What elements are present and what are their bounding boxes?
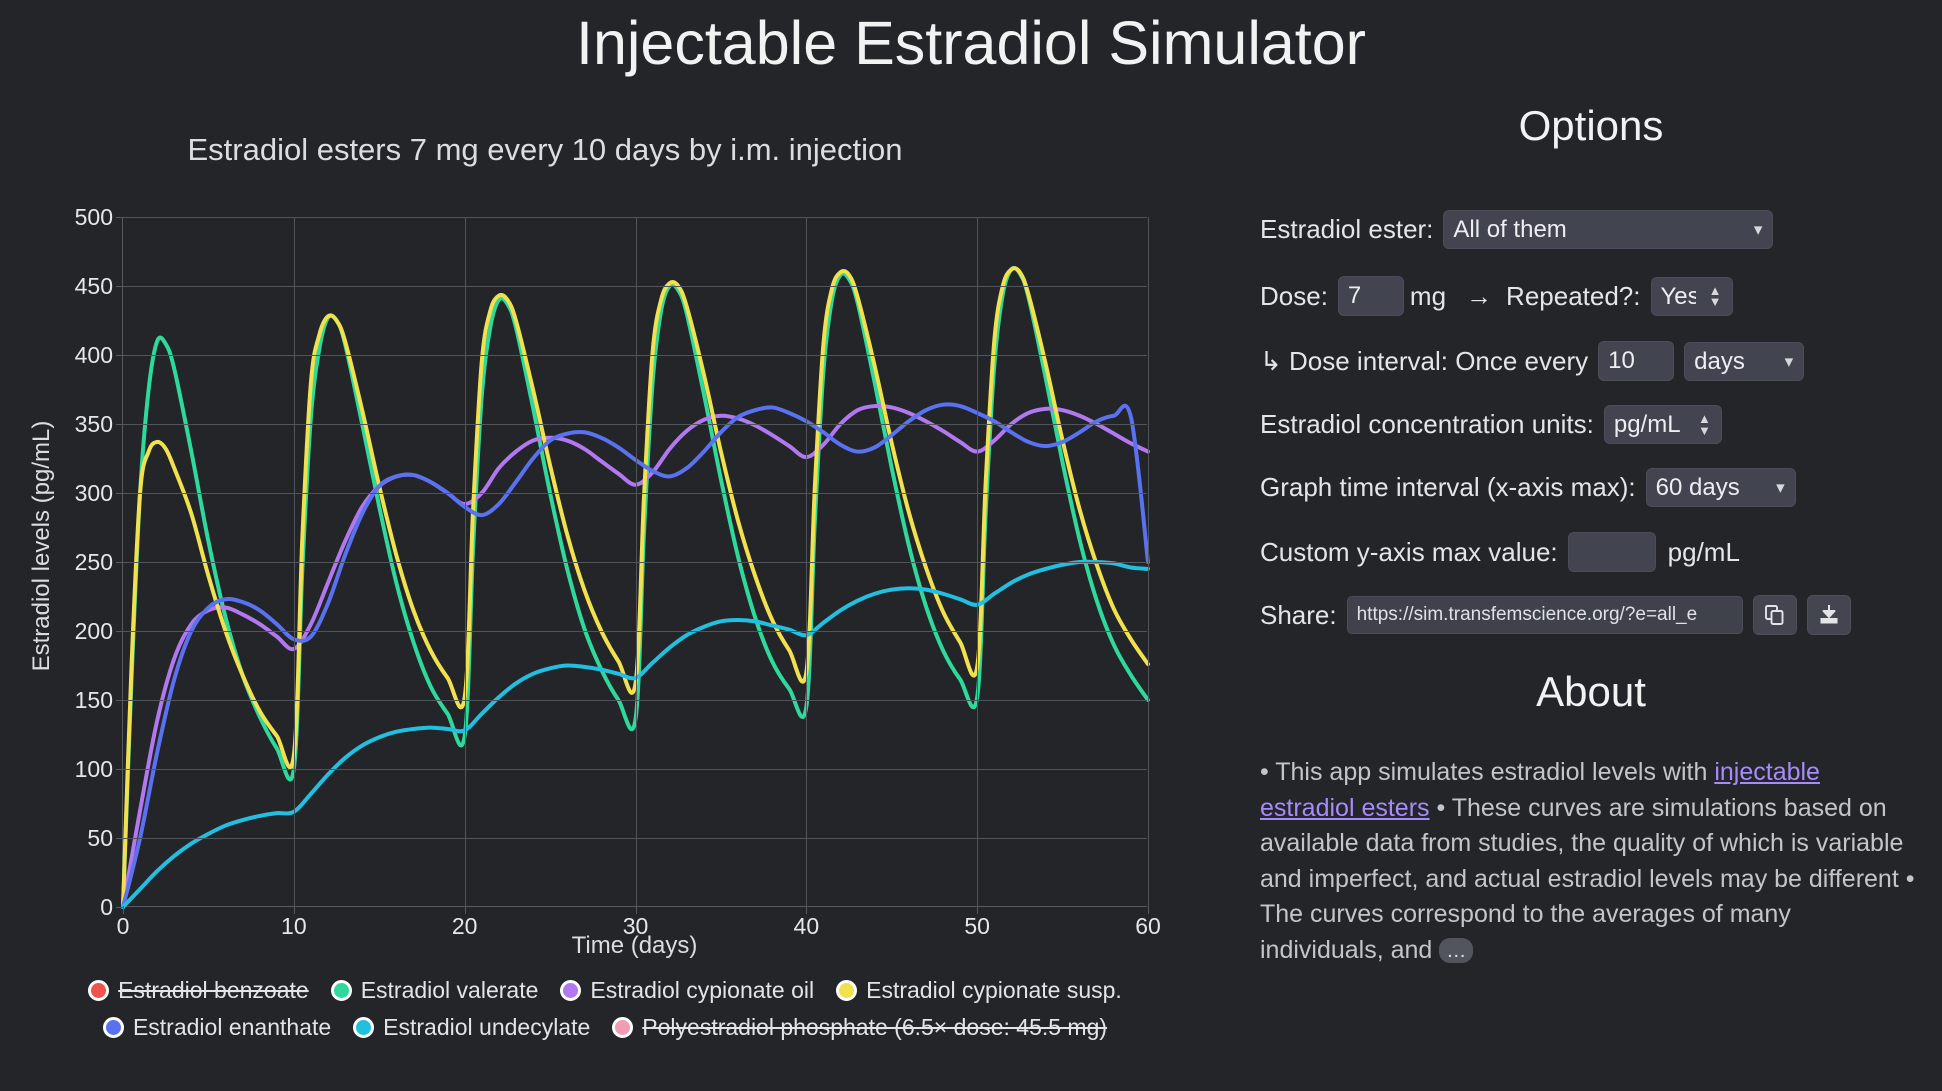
option-row-share: Share: [1260, 595, 1851, 635]
options-panel: Options Estradiol ester: All of them ▾ D… [1240, 0, 1942, 1091]
plot-wrapper: Estradiol levels (pg/mL) Time (days) 050… [0, 167, 1210, 957]
chart-legend: Estradiol benzoateEstradiol valerateEstr… [0, 977, 1210, 1051]
x-axis-tick-mark [806, 906, 807, 914]
about-text: • This app simulates estradiol levels wi… [1260, 755, 1920, 968]
y-axis-tick-mark [116, 217, 123, 218]
y-axis-tick-mark [116, 493, 123, 494]
legend-item-label: Estradiol undecylate [383, 1014, 590, 1041]
chart-container: Estradiol esters 7 mg every 10 days by i… [0, 122, 1210, 1082]
share-label: Share: [1260, 600, 1337, 631]
ymax-unit: pg/mL [1668, 537, 1740, 568]
time-interval-select-wrap[interactable]: 60 days ▾ [1646, 468, 1796, 507]
x-axis-tick-mark [636, 906, 637, 914]
time-interval-select[interactable]: 60 days [1646, 468, 1796, 507]
legend-item[interactable]: Polyestradiol phosphate (6.5× dose: 45.5… [612, 1014, 1107, 1041]
legend-item[interactable]: Estradiol cypionate oil [560, 977, 814, 1004]
ester-label: Estradiol ester: [1260, 214, 1433, 245]
legend-item[interactable]: Estradiol benzoate [88, 977, 309, 1004]
ymax-input[interactable] [1568, 532, 1656, 572]
x-axis-tick-label: 40 [766, 913, 846, 940]
ester-select-wrap[interactable]: All of them ▾ [1443, 210, 1773, 249]
x-axis-tick-mark [977, 906, 978, 914]
option-row-ester: Estradiol ester: All of them ▾ [1260, 210, 1773, 249]
option-row-units: Estradiol concentration units: pg/mL ▲▼ [1260, 405, 1722, 444]
gridline-vertical [294, 217, 295, 906]
option-row-dose: Dose: mg → Repeated?: Yes ▲▼ [1260, 276, 1733, 316]
legend-item[interactable]: Estradiol cypionate susp. [836, 977, 1122, 1004]
repeated-select[interactable]: Yes [1651, 277, 1733, 316]
y-axis-tick-mark [116, 424, 123, 425]
y-axis-tick-mark [116, 907, 123, 908]
y-axis-tick-label: 250 [0, 549, 113, 576]
y-axis-tick-mark [116, 355, 123, 356]
legend-row: Estradiol benzoateEstradiol valerateEstr… [0, 977, 1210, 1004]
copy-icon [1763, 603, 1787, 627]
units-select-wrap[interactable]: pg/mL ▲▼ [1604, 405, 1722, 444]
dose-unit: mg [1410, 281, 1446, 312]
legend-item-label: Estradiol benzoate [118, 977, 309, 1004]
legend-color-swatch [836, 980, 857, 1001]
y-axis-tick-label: 350 [0, 411, 113, 438]
ymax-label: Custom y-axis max value: [1260, 537, 1558, 568]
legend-color-swatch [612, 1017, 633, 1038]
y-axis-tick-label: 200 [0, 618, 113, 645]
gridline-vertical [977, 217, 978, 906]
legend-color-swatch [331, 980, 352, 1001]
legend-item[interactable]: Estradiol valerate [331, 977, 539, 1004]
y-axis-tick-label: 450 [0, 273, 113, 300]
interval-label: ↳ Dose interval: Once every [1260, 346, 1588, 377]
x-axis-tick-label: 20 [425, 913, 505, 940]
x-axis-tick-label: 30 [596, 913, 676, 940]
y-axis-tick-mark [116, 838, 123, 839]
option-row-ymax: Custom y-axis max value: pg/mL [1260, 532, 1746, 572]
legend-row: Estradiol enanthateEstradiol undecylateP… [0, 1014, 1210, 1041]
legend-item-label: Estradiol cypionate oil [590, 977, 814, 1004]
y-axis-tick-mark [116, 700, 123, 701]
x-axis-tick-mark [1148, 906, 1149, 914]
y-axis-tick-mark [116, 562, 123, 563]
dose-label: Dose: [1260, 281, 1328, 312]
interval-unit-select[interactable]: days [1684, 342, 1804, 381]
about-part1: • This app simulates estradiol levels wi… [1260, 758, 1714, 786]
gridline-vertical [465, 217, 466, 906]
y-axis-tick-label: 300 [0, 480, 113, 507]
x-axis-tick-mark [123, 906, 124, 914]
legend-color-swatch [353, 1017, 374, 1038]
chart-title: Estradiol esters 7 mg every 10 days by i… [0, 132, 1210, 168]
y-axis-tick-label: 150 [0, 687, 113, 714]
legend-item-label: Polyestradiol phosphate (6.5× dose: 45.5… [642, 1014, 1107, 1041]
y-axis-tick-mark [116, 769, 123, 770]
repeated-label: Repeated?: [1506, 281, 1640, 312]
legend-color-swatch [103, 1017, 124, 1038]
x-axis-tick-label: 0 [83, 913, 163, 940]
plot-area: 0501001502002503003504004505000102030405… [122, 217, 1147, 907]
option-row-time-interval: Graph time interval (x-axis max): 60 day… [1260, 468, 1796, 507]
interval-unit-select-wrap[interactable]: days ▾ [1684, 342, 1804, 381]
units-select[interactable]: pg/mL [1604, 405, 1722, 444]
x-axis-tick-mark [465, 906, 466, 914]
legend-item-label: Estradiol valerate [361, 977, 539, 1004]
y-axis-tick-label: 100 [0, 756, 113, 783]
y-axis-tick-label: 400 [0, 342, 113, 369]
legend-color-swatch [560, 980, 581, 1001]
legend-color-swatch [88, 980, 109, 1001]
copy-button[interactable] [1753, 595, 1797, 635]
x-axis-tick-label: 60 [1108, 913, 1188, 940]
x-axis-tick-label: 10 [254, 913, 334, 940]
dose-input[interactable] [1338, 276, 1404, 316]
options-heading: Options [1240, 102, 1942, 150]
legend-item-label: Estradiol enanthate [133, 1014, 331, 1041]
x-axis-tick-mark [294, 906, 295, 914]
arrow-icon: → [1466, 281, 1492, 312]
legend-item[interactable]: Estradiol enanthate [103, 1014, 331, 1041]
ester-select[interactable]: All of them [1443, 210, 1773, 249]
y-axis-tick-label: 50 [0, 825, 113, 852]
legend-item[interactable]: Estradiol undecylate [353, 1014, 590, 1041]
y-axis-tick-mark [116, 286, 123, 287]
download-button[interactable] [1807, 595, 1851, 635]
x-axis-tick-label: 50 [937, 913, 1017, 940]
download-icon [1817, 603, 1841, 627]
legend-item-label: Estradiol cypionate susp. [866, 977, 1122, 1004]
y-axis-tick-mark [116, 631, 123, 632]
share-url-input[interactable] [1347, 596, 1743, 634]
option-row-interval: ↳ Dose interval: Once every days ▾ [1260, 341, 1804, 381]
gridline-vertical [1148, 217, 1149, 906]
repeated-select-wrap[interactable]: Yes ▲▼ [1651, 277, 1733, 316]
y-axis-tick-label: 500 [0, 204, 113, 231]
interval-input[interactable] [1598, 341, 1674, 381]
gridline-vertical [636, 217, 637, 906]
gridline-vertical [806, 217, 807, 906]
about-heading: About [1240, 668, 1942, 716]
time-interval-label: Graph time interval (x-axis max): [1260, 472, 1636, 503]
units-label: Estradiol concentration units: [1260, 409, 1594, 440]
expand-about-button[interactable]: … [1439, 938, 1473, 963]
